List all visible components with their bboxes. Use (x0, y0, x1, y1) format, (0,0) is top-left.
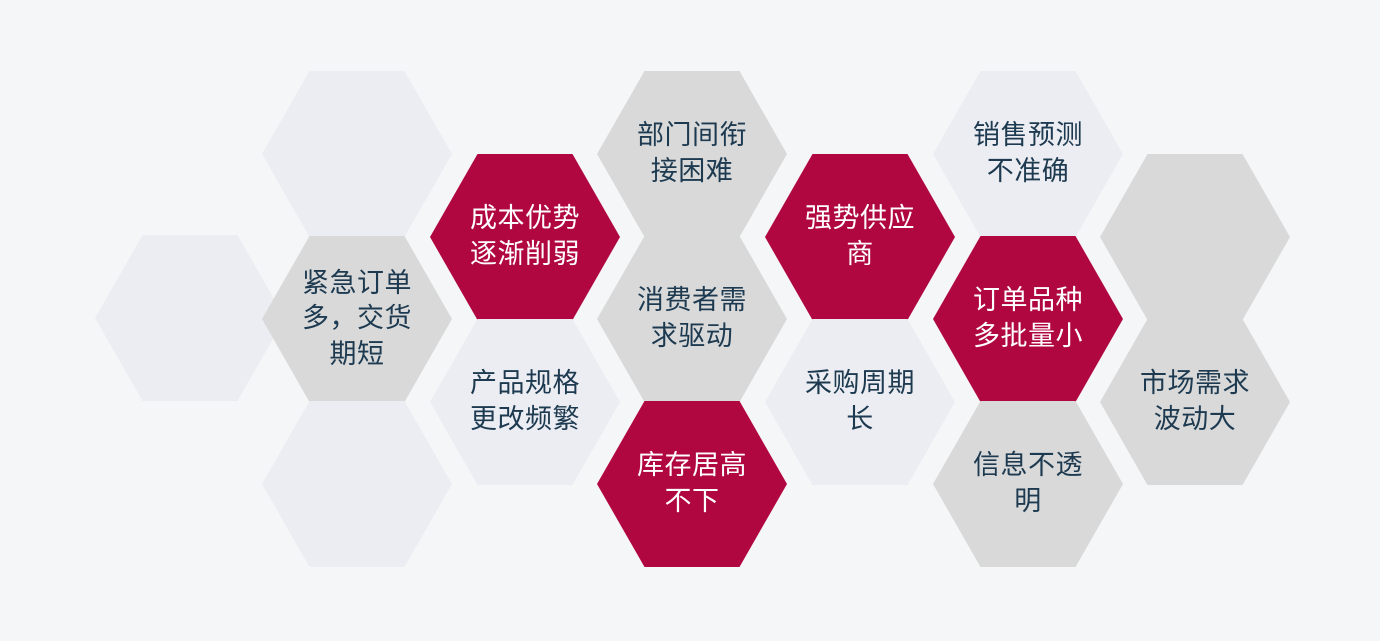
hexagon-label: 市场需求波动大 (1139, 366, 1251, 437)
hexagon-cell-empty (262, 401, 452, 567)
hexagon-cell[interactable]: 成本优势逐渐削弱 (430, 154, 620, 320)
hexagon-label: 消费者需求驱动 (636, 283, 748, 354)
hexagon-label: 采购周期长 (804, 366, 916, 437)
hexagon-cell[interactable]: 库存居高不下 (597, 401, 787, 567)
hexagon-cell[interactable]: 采购周期长 (765, 319, 955, 485)
hexagon-label: 部门间衔接困难 (636, 118, 748, 189)
hexagon-cell-empty (262, 71, 452, 237)
hexagon-cell[interactable]: 消费者需求驱动 (597, 236, 787, 402)
hexagon-label: 产品规格更改频繁 (469, 366, 581, 437)
hexagon-label: 库存居高不下 (636, 448, 748, 519)
hexagon-cell[interactable]: 强势供应商 (765, 154, 955, 320)
hexagon-cell[interactable]: 市场需求波动大 (1100, 319, 1290, 485)
hexagon-label: 强势供应商 (804, 201, 916, 272)
hexagon-cell-empty (1100, 154, 1290, 320)
hexagon-label: 成本优势逐渐削弱 (469, 201, 581, 272)
honeycomb-diagram: 紧急订单多，交货期短成本优势逐渐削弱产品规格更改频繁部门间衔接困难消费者需求驱动… (0, 0, 1380, 641)
hexagon-cell[interactable]: 产品规格更改频繁 (430, 319, 620, 485)
hexagon-label: 订单品种多批量小 (972, 283, 1084, 354)
hexagon-cell[interactable]: 部门间衔接困难 (597, 71, 787, 237)
hexagon-cell[interactable]: 销售预测不准确 (933, 71, 1123, 237)
hexagon-label: 信息不透明 (972, 448, 1084, 519)
hexagon-cell[interactable]: 紧急订单多，交货期短 (262, 236, 452, 402)
hexagon-label: 销售预测不准确 (972, 118, 1084, 189)
hexagon-cell[interactable]: 信息不透明 (933, 401, 1123, 567)
hexagon-label: 紧急订单多，交货期短 (301, 266, 413, 373)
hexagon-cell[interactable]: 订单品种多批量小 (933, 236, 1123, 402)
hexagon-cell-empty (95, 235, 285, 401)
